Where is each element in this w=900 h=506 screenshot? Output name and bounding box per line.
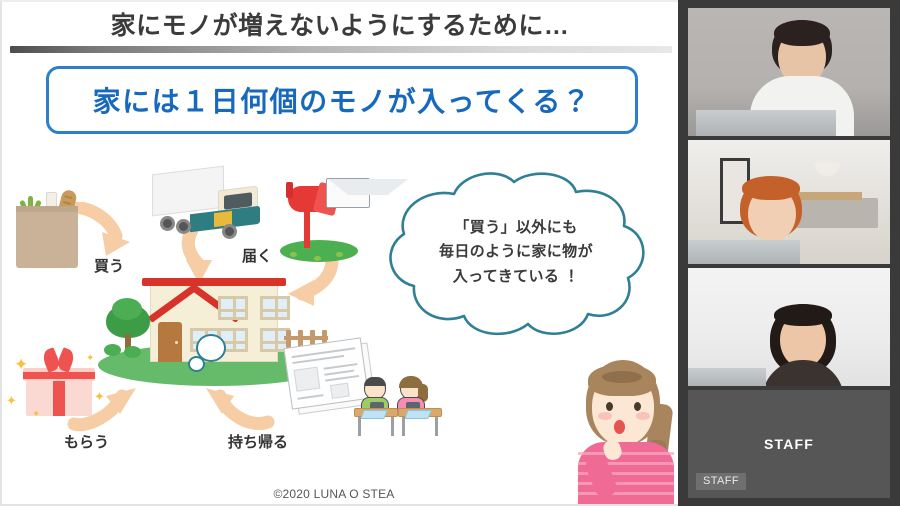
copyright-notice: ©2020 LUNA O STEA	[2, 487, 678, 501]
thought-bubble-text: 「買う」以外にも 毎日のように家に物が 入ってきている ！	[380, 216, 652, 289]
sparkle-icon: ✦	[32, 410, 40, 420]
participant-placeholder-staff[interactable]: STAFF STAFF	[688, 390, 890, 498]
avatar-fringe	[742, 176, 800, 200]
laptop-icon	[688, 368, 766, 386]
envelope-icon	[326, 178, 370, 208]
sparkle-icon: ✦	[86, 354, 94, 364]
page-title: 家にモノが増えないようにするために…	[2, 6, 678, 42]
label-bring-home: 持ち帰る	[228, 431, 288, 452]
question-callout-box: 家には１日何個のモノが入ってくる？	[46, 66, 638, 134]
thinking-woman-icon	[574, 358, 678, 506]
avatar-fringe	[774, 20, 830, 46]
thought-bubble-tail-small	[188, 356, 205, 372]
delivery-truck-icon	[152, 166, 266, 238]
laptop-icon	[696, 110, 836, 136]
participant-video-rail: STAFF STAFF	[678, 0, 900, 506]
label-receive: もらう	[64, 431, 109, 452]
participant-video-3[interactable]	[688, 268, 890, 386]
avatar-fringe	[774, 304, 832, 326]
title-underline-rule	[10, 46, 672, 53]
diagram-canvas: 買う ✦ ✦ ✦ ✦ ✦ もらう	[2, 142, 678, 506]
school-kids-icon	[354, 364, 450, 432]
sparkle-icon: ✦	[6, 394, 17, 407]
label-deliver: 届く	[242, 245, 272, 266]
sparkle-icon: ✦	[14, 356, 28, 373]
grocery-bag-icon	[16, 190, 78, 268]
shared-slide: 家にモノが増えないようにするために… 家には１日何個のモノが入ってくる？	[0, 0, 678, 506]
participant-video-1[interactable]	[688, 8, 890, 136]
room-counter-icon	[796, 198, 878, 228]
room-table-icon	[792, 192, 862, 200]
sparkle-icon: ✦	[94, 390, 105, 403]
mailbox-icon	[284, 182, 364, 274]
gift-box-icon	[26, 350, 92, 416]
question-text: 家には１日何個のモノが入ってくる？	[93, 80, 592, 120]
screen-share-window: 家にモノが増えないようにするために… 家には１日何個のモノが入ってくる？	[0, 0, 900, 506]
participant-video-2[interactable]	[688, 140, 890, 264]
laptop-icon	[688, 240, 800, 264]
thought-bubble: 「買う」以外にも 毎日のように家に物が 入ってきている ！	[380, 170, 652, 340]
participant-name-badge: STAFF	[696, 473, 746, 490]
